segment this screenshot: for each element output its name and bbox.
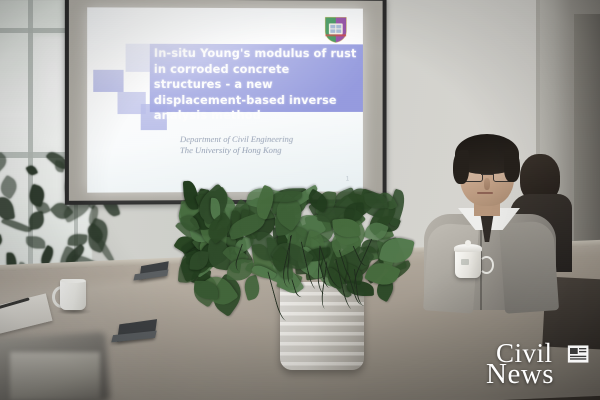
slide-subtitle-line2: The University of Hong Kong [180,145,359,157]
slide-accent-block [126,44,150,72]
mug-rim [60,279,86,283]
white-mug [56,279,86,312]
teacup-handle [479,256,494,274]
slide-subtitle-line1: Department of Civil Engineering [180,134,359,146]
mug-body [60,279,86,310]
teacup-knob [465,240,471,246]
slide-accent-block [93,70,123,92]
slide-number: 1 [346,177,349,183]
lidded-teacup [452,240,486,280]
potted-plant [176,186,388,372]
seated-man [418,128,600,308]
photograph: In-situ Young's modulus of rust in corro… [0,0,600,400]
presentation-slide: In-situ Young's modulus of rust in corro… [87,7,363,192]
slide-title: In-situ Young's modulus of rust in corro… [154,46,359,124]
hku-crest-icon [324,16,347,43]
hair-side-right [504,150,520,182]
hair-side-left [453,150,469,184]
teacup-marking [461,259,469,265]
slide-subtitle: Department of Civil Engineering The Univ… [180,134,359,157]
foreground-blur-object-2 [10,352,100,400]
jacket-right-arm [499,220,559,314]
projector-screen: In-situ Young's modulus of rust in corro… [65,0,387,205]
